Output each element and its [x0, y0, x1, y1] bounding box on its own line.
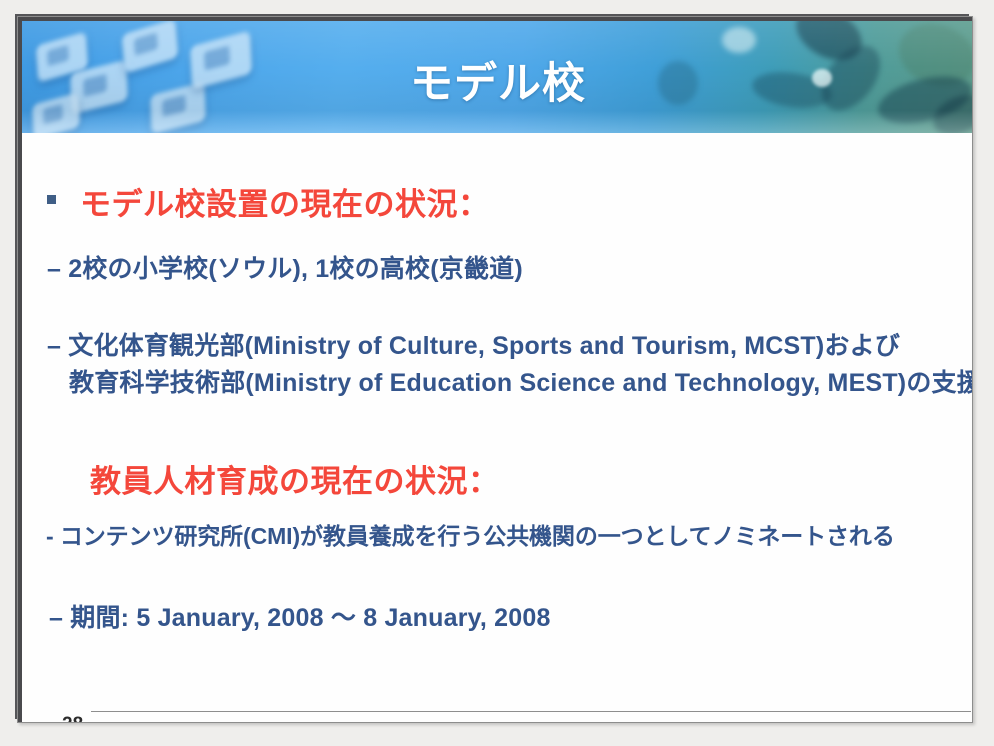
- content-heading-model-schools: モデル校設置の現在の状況：: [80, 179, 490, 224]
- content-heading-teacher-training: 教員人材育成の現在の状況：: [90, 456, 500, 501]
- content-item-school-counts: – 2校の小学校(ソウル), 1校の高校(京畿道): [47, 249, 523, 285]
- page-number: 28: [62, 714, 83, 723]
- footer-brand-label: Contents Management Institute: [694, 721, 964, 723]
- content-item-ministries-line2: 教育科学技術部(Ministry of Education Science an…: [69, 363, 973, 399]
- slide-page: モデル校 モデル校設置の現在の状況： – 2校の小学校(ソウル), 1校の高校(…: [0, 0, 994, 746]
- content-item-period: – 期間: 5 January, 2008 〜 8 January, 2008: [49, 598, 551, 634]
- slide-title: モデル校: [22, 49, 973, 111]
- footer-divider: [91, 711, 971, 712]
- slide-frame: モデル校 モデル校設置の現在の状況： – 2校の小学校(ソウル), 1校の高校(…: [17, 16, 973, 723]
- slide-banner: モデル校: [22, 21, 973, 133]
- slide-content: モデル校設置の現在の状況： – 2校の小学校(ソウル), 1校の高校(京畿道) …: [22, 133, 973, 720]
- content-item-cmi-nomination: - コンテンツ研究所(CMI)が教員養成を行う公共機関の一つとしてノミネートされ…: [46, 517, 895, 551]
- square-bullet-icon: [47, 195, 56, 204]
- content-item-ministries-line1: – 文化体育観光部(Ministry of Culture, Sports an…: [47, 326, 900, 362]
